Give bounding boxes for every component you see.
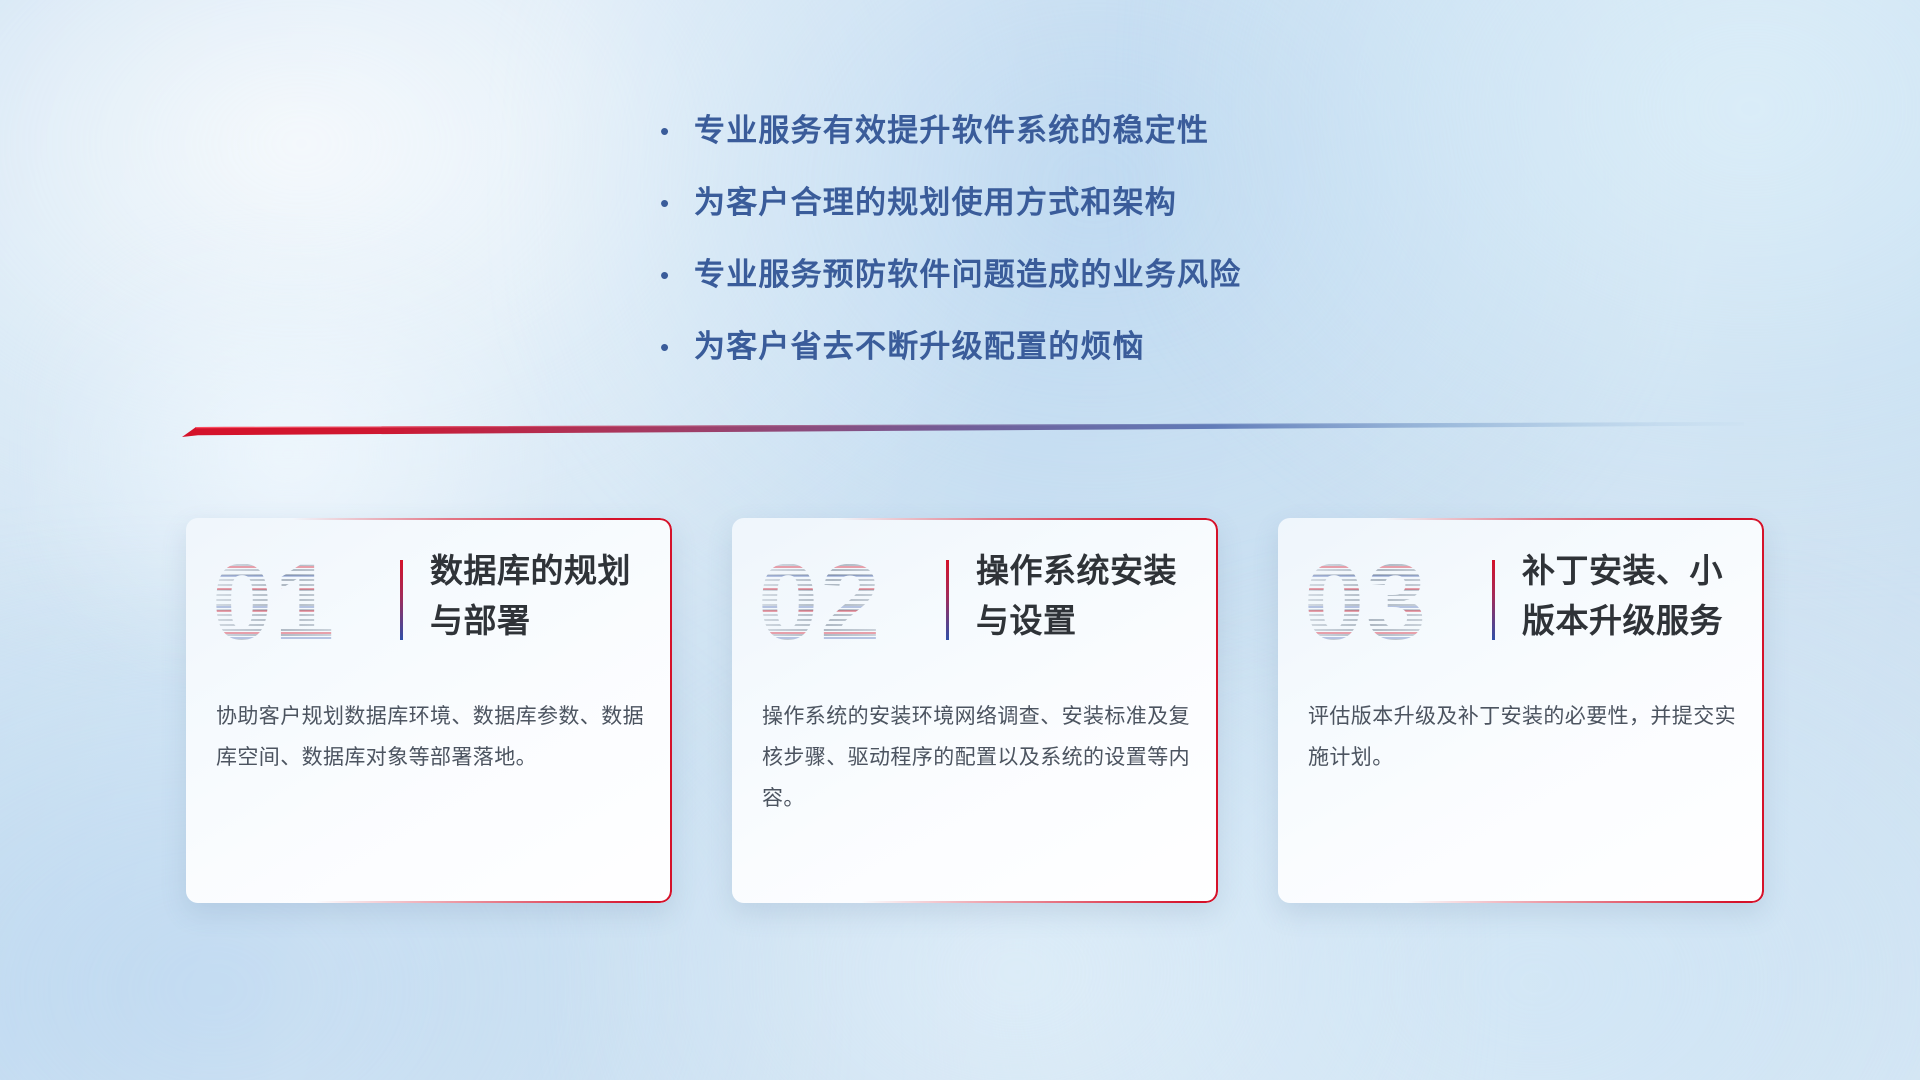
card-title: 补丁安装、小版本升级服务: [1522, 546, 1750, 646]
section-divider: [182, 420, 1744, 446]
card-description: 评估版本升级及补丁安装的必要性，并提交实施计划。: [1308, 696, 1738, 778]
list-item: • 专业服务有效提升软件系统的稳定性: [660, 108, 1560, 154]
card-description: 协助客户规划数据库环境、数据库参数、数据库空间、数据库对象等部署落地。: [216, 696, 646, 778]
service-card[interactable]: 01 01 01 数据库的规划与部署 协助客户规划数据库环境、数据库参数、数据库…: [186, 518, 672, 903]
service-card[interactable]: 03 03 03 补丁安装、小版本升级服务 评估版本升级及补丁安装的必要性，并提…: [1278, 518, 1764, 903]
section-divider-shape: [182, 420, 1744, 446]
list-item: • 为客户省去不断升级配置的烦恼: [660, 324, 1560, 370]
card-title: 操作系统安装与设置: [976, 546, 1204, 646]
bullet-dot-icon: •: [660, 108, 694, 154]
bullet-text: 为客户省去不断升级配置的烦恼: [694, 324, 1145, 370]
bullet-dot-icon: •: [660, 252, 694, 298]
card-number-tint-blue: 01: [212, 544, 372, 660]
card-title: 数据库的规划与部署: [430, 546, 658, 646]
list-item: • 为客户合理的规划使用方式和架构: [660, 180, 1560, 226]
list-item: • 专业服务预防软件问题造成的业务风险: [660, 252, 1560, 298]
bullet-text: 为客户合理的规划使用方式和架构: [694, 180, 1177, 226]
bullet-text: 专业服务有效提升软件系统的稳定性: [694, 108, 1209, 154]
benefits-bullet-list: • 专业服务有效提升软件系统的稳定性 • 为客户合理的规划使用方式和架构 • 专…: [660, 108, 1560, 396]
card-number-tint-blue: 02: [758, 544, 918, 660]
card-header: 02 02 02 操作系统安装与设置: [732, 518, 1218, 678]
bullet-dot-icon: •: [660, 180, 694, 226]
card-header: 03 03 03 补丁安装、小版本升级服务: [1278, 518, 1764, 678]
bullet-dot-icon: •: [660, 324, 694, 370]
card-number-tint-blue: 03: [1304, 544, 1464, 660]
card-description: 操作系统的安装环境网络调查、安装标准及复核步骤、驱动程序的配置以及系统的设置等内…: [762, 696, 1192, 819]
service-card[interactable]: 02 02 02 操作系统安装与设置 操作系统的安装环境网络调查、安装标准及复核…: [732, 518, 1218, 903]
service-cards: 01 01 01 数据库的规划与部署 协助客户规划数据库环境、数据库参数、数据库…: [186, 518, 1764, 908]
bullet-text: 专业服务预防软件问题造成的业务风险: [694, 252, 1241, 298]
card-title-divider: [1492, 560, 1495, 640]
card-header: 01 01 01 数据库的规划与部署: [186, 518, 672, 678]
card-title-divider: [400, 560, 403, 640]
card-title-divider: [946, 560, 949, 640]
